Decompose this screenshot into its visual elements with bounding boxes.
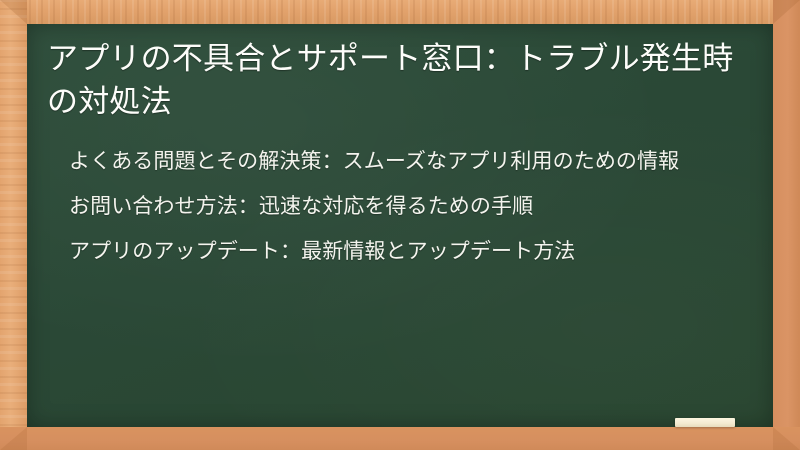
slide-title: アプリの不具合とサポート窓口：トラブル発生時の対処法 (45, 38, 755, 124)
chalkboard-surface: アプリの不具合とサポート窓口：トラブル発生時の対処法 よくある問題とその解決策：… (27, 24, 773, 427)
chalk-stick-icon (675, 418, 735, 427)
bullet-list: よくある問題とその解決策：スムーズなアプリ利用のための情報 お問い合わせ方法：迅… (45, 146, 755, 267)
frame-rail-bottom (0, 427, 800, 450)
frame-rail-right (773, 0, 800, 450)
frame-rail-left (0, 0, 27, 450)
frame-corner-bottom-left (0, 427, 27, 450)
frame-corner-top-left (0, 0, 27, 24)
bullet-item-1: よくある問題とその解決策：スムーズなアプリ利用のための情報 (69, 146, 755, 177)
frame-corner-bottom-right (773, 427, 800, 450)
frame-corner-top-right (773, 0, 800, 24)
chalkboard-slide: アプリの不具合とサポート窓口：トラブル発生時の対処法 よくある問題とその解決策：… (0, 0, 800, 450)
bullet-item-3: アプリのアップデート：最新情報とアップデート方法 (69, 236, 755, 267)
bullet-item-2: お問い合わせ方法：迅速な対応を得るための手順 (69, 191, 755, 222)
frame-rail-top (0, 0, 800, 24)
